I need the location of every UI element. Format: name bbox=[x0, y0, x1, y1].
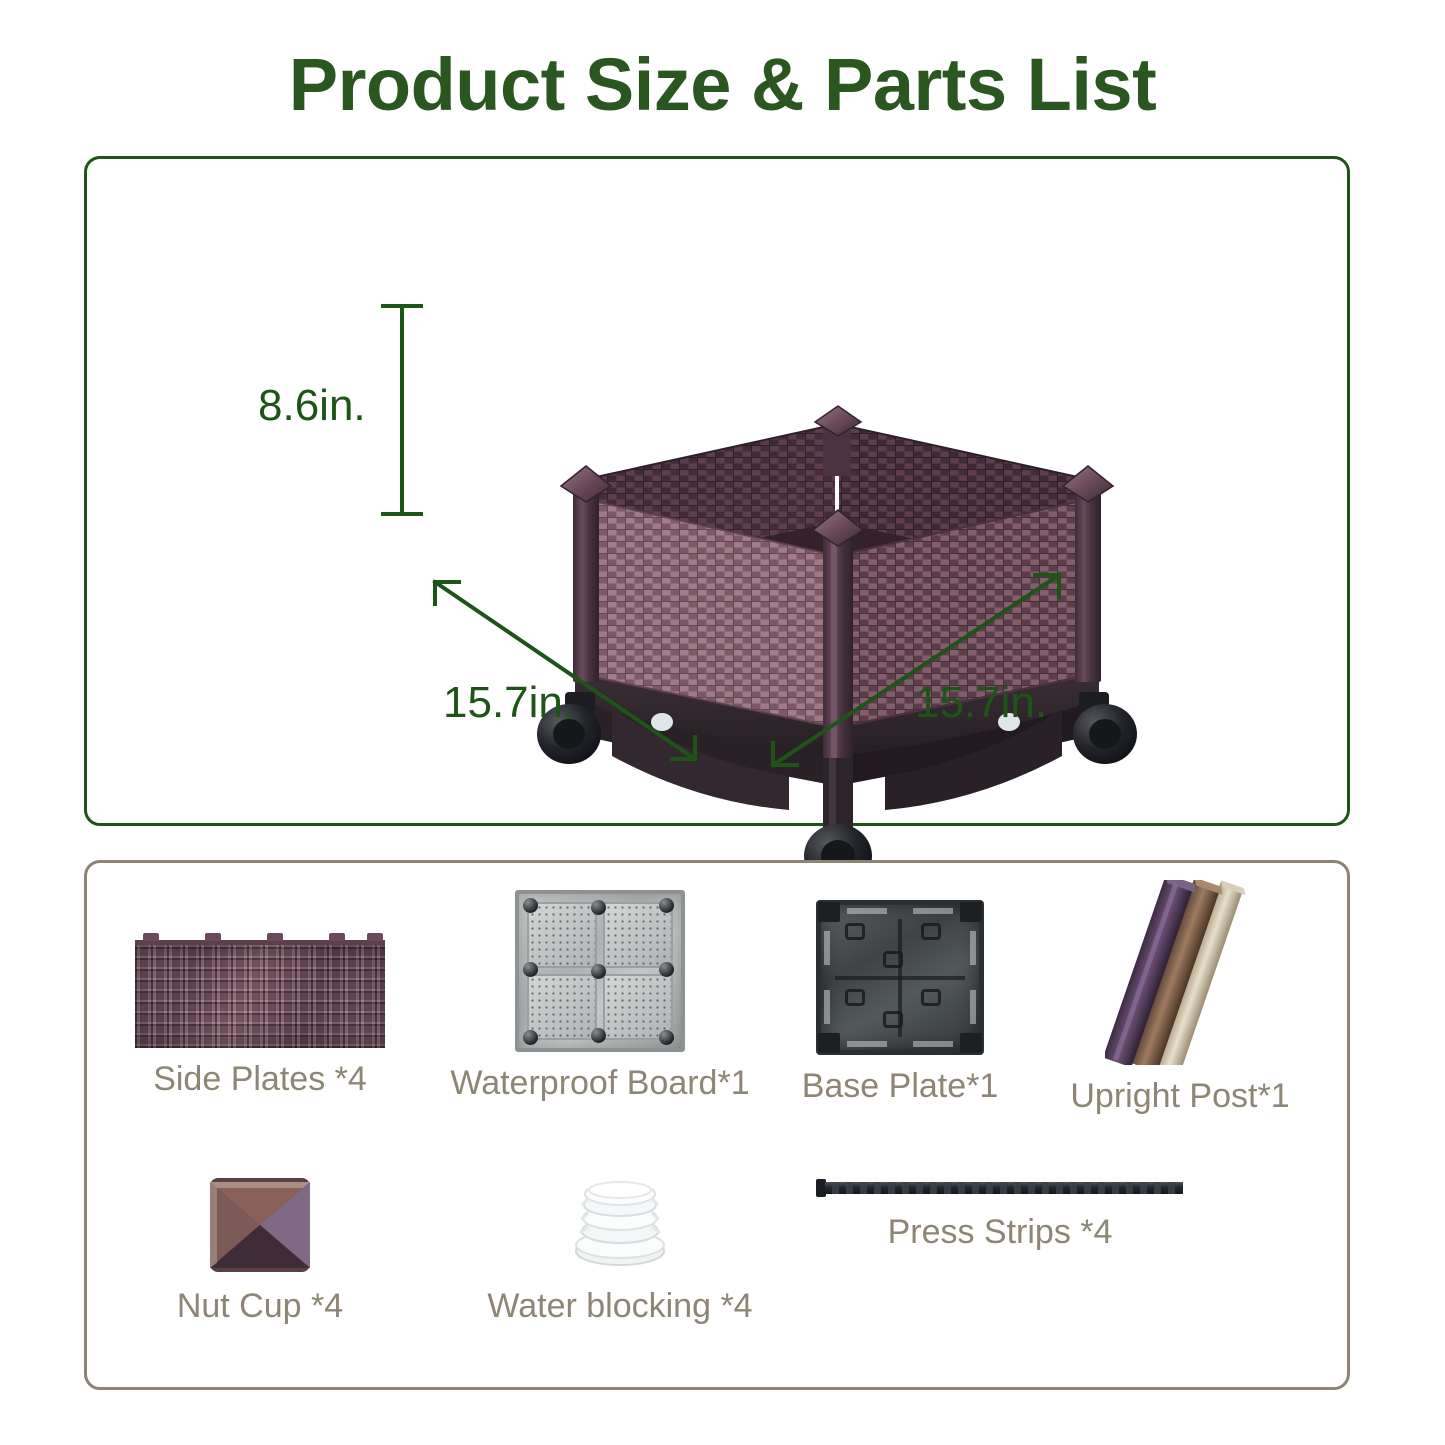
waterproof-board-icon bbox=[515, 890, 685, 1052]
part-label: Water blocking *4 bbox=[420, 1287, 820, 1326]
part-upright-post: Upright Post*1 bbox=[1000, 880, 1360, 1116]
water-blocking-icon bbox=[568, 1175, 672, 1275]
part-press-strips: Press Strips *4 bbox=[790, 1175, 1210, 1252]
nut-cup-icon bbox=[207, 1175, 313, 1275]
base-plate-icon bbox=[816, 900, 984, 1055]
part-label: Nut Cup *4 bbox=[60, 1287, 460, 1326]
dimension-guides bbox=[87, 159, 1353, 829]
page-title: Product Size & Parts List bbox=[0, 42, 1445, 127]
part-nut-cup: Nut Cup *4 bbox=[60, 1175, 460, 1326]
product-size-panel: 8.6in. 15.7in. 15.7in. bbox=[84, 156, 1350, 826]
part-label: Press Strips *4 bbox=[790, 1213, 1210, 1252]
upright-post-icon bbox=[1105, 880, 1255, 1065]
dimension-height-label: 8.6in. bbox=[258, 381, 366, 431]
press-strip-icon bbox=[816, 1175, 1184, 1201]
part-water-blocking: Water blocking *4 bbox=[420, 1175, 820, 1326]
side-plate-tabs bbox=[135, 933, 385, 941]
infographic-page: Product Size & Parts List bbox=[0, 0, 1445, 1445]
dimension-width-right-label: 15.7in. bbox=[915, 678, 1047, 728]
dimension-width-left-label: 15.7in. bbox=[443, 678, 575, 728]
part-label: Upright Post*1 bbox=[1000, 1077, 1360, 1116]
side-plate-icon bbox=[135, 940, 385, 1048]
